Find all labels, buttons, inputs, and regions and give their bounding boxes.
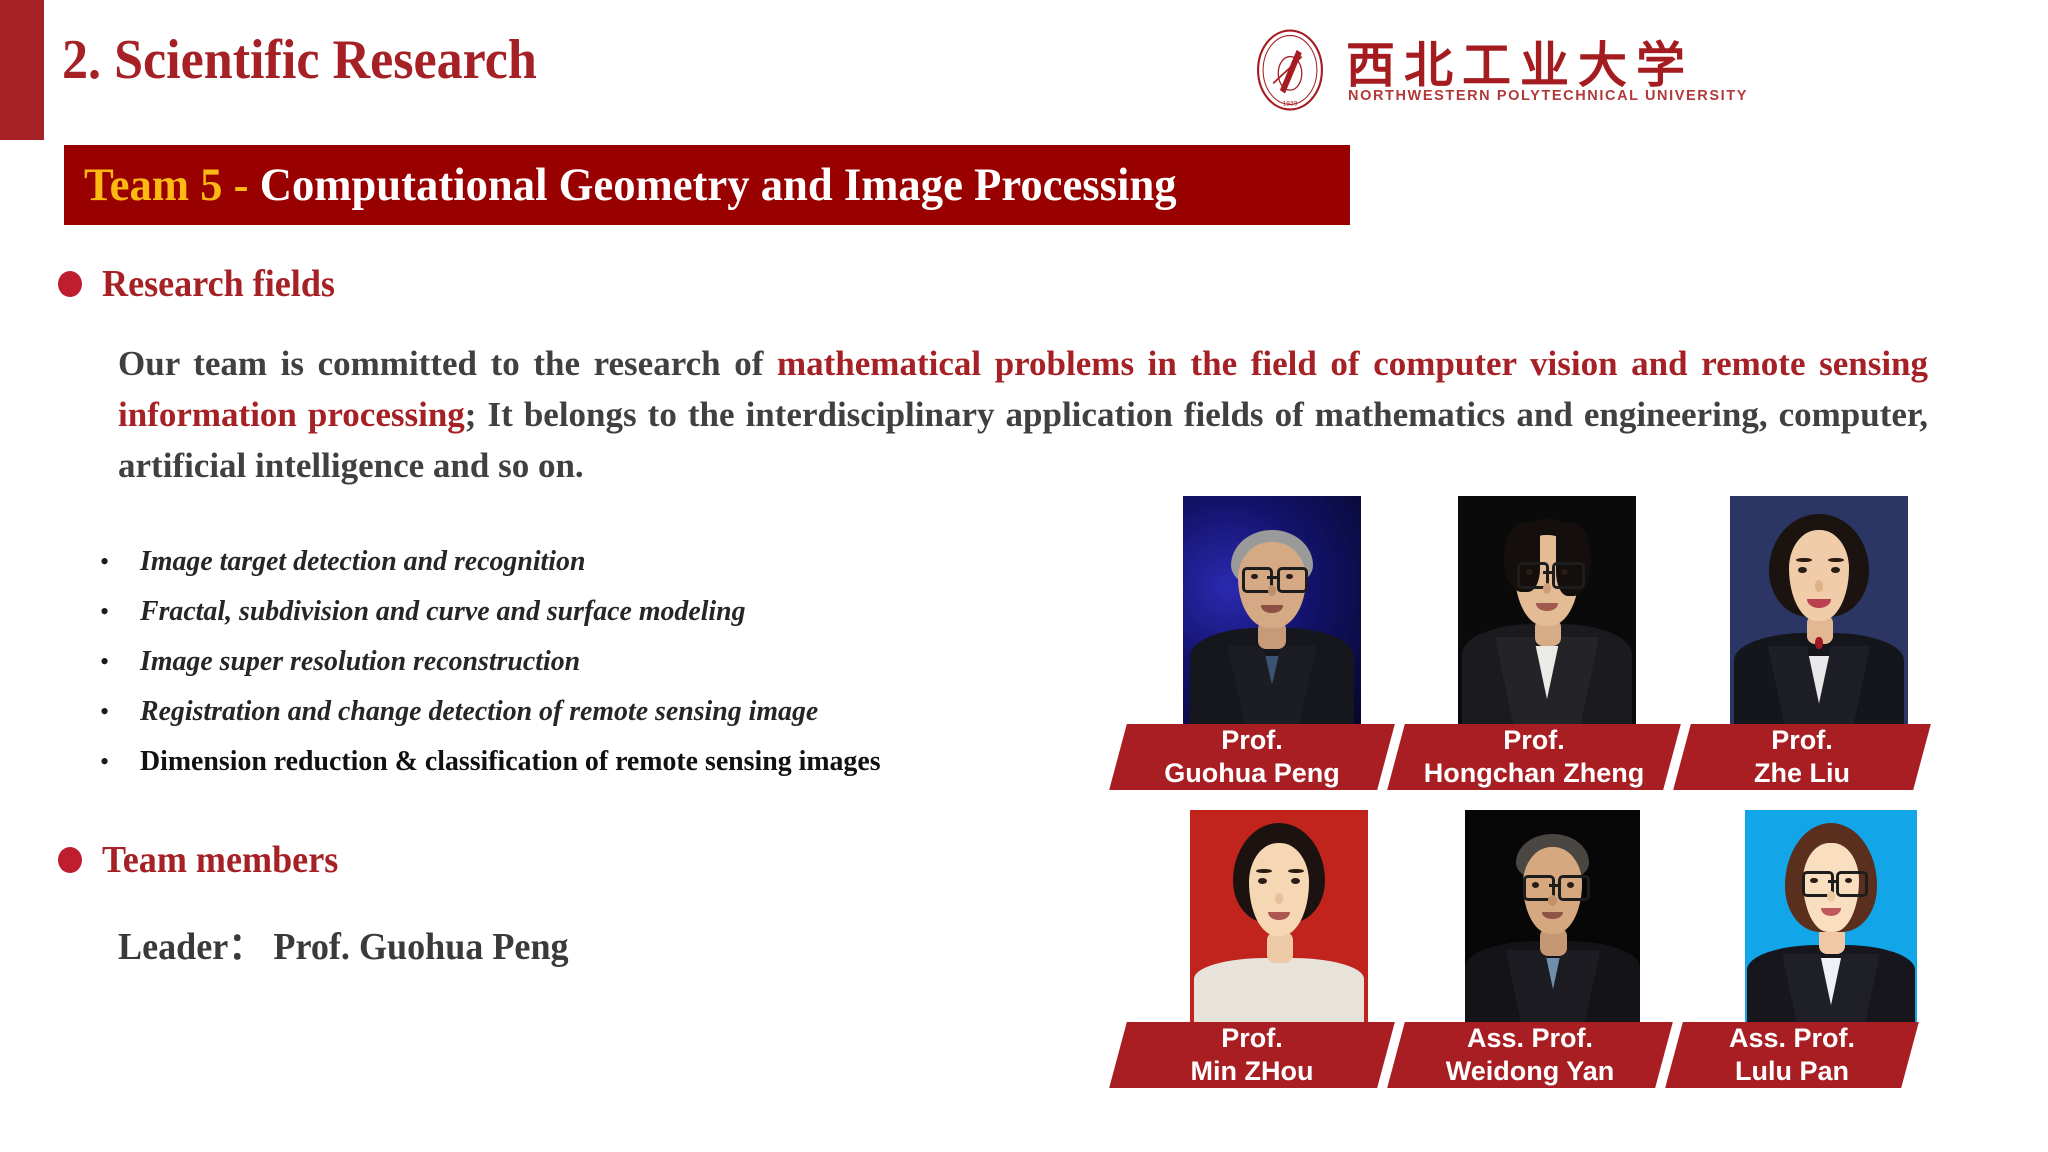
list-item-label: Fractal, subdivision and curve and surfa… (140, 595, 746, 628)
list-item: • Fractal, subdivision and curve and sur… (100, 595, 1030, 645)
member-photo-lulu-pan (1745, 810, 1917, 1028)
ribbon-segment (1109, 1022, 1395, 1088)
university-seal-icon: 1938 (1248, 28, 1332, 112)
list-item: • Dimension reduction & classification o… (100, 745, 1030, 795)
list-bullet-icon: • (100, 699, 140, 725)
list-item-label: Image target detection and recognition (140, 545, 585, 578)
ribbon-segment (1387, 1022, 1673, 1088)
member-photo-zhe-liu (1730, 496, 1908, 724)
team-separator: - (223, 159, 260, 211)
team-topic-label: Computational Geometry and Image Process… (260, 159, 1177, 211)
list-bullet-icon: • (100, 749, 140, 775)
team-members-label: Team members (102, 838, 338, 882)
ribbon-segment (1665, 1022, 1919, 1088)
research-description-paragraph: Our team is committed to the research of… (118, 338, 1928, 491)
bullet-dot-icon (58, 847, 82, 873)
portrait-figure (1190, 810, 1368, 1028)
list-bullet-icon: • (100, 549, 140, 575)
ribbon-segment (1673, 724, 1931, 790)
research-topics-list: • Image target detection and recognition… (100, 545, 1030, 795)
portrait-figure (1730, 496, 1908, 724)
list-item: • Image super resolution reconstruction (100, 645, 1030, 695)
bullet-dot-icon (58, 271, 82, 297)
team-leader-label: Leader： Prof. Guohua Peng (118, 915, 569, 970)
page-title: 2. Scientific Research (62, 28, 537, 92)
svg-text:1938: 1938 (1283, 101, 1298, 107)
paragraph-part-pre: Our team is committed to the research of (118, 344, 777, 383)
ribbon-segment (1109, 724, 1395, 790)
member-photo-guohua-peng (1183, 496, 1361, 724)
team-title-text: Team 5 - Computational Geometry and Imag… (84, 158, 1177, 212)
member-ribbon-row-1: Prof. Guohua Peng Prof. Hongchan Zheng P… (1100, 724, 2000, 790)
logo-lockup: 1938 西北工业大学 NORTHWESTERN POLYTECHNICAL U… (1238, 22, 2028, 122)
list-item-label: Dimension reduction & classification of … (140, 745, 881, 778)
list-item-label: Image super resolution reconstruction (140, 645, 580, 678)
ribbon-segment (1387, 724, 1681, 790)
slide-canvas: 2. Scientific Research 1938 西北工业大学 NORTH… (0, 0, 2048, 1152)
team-title-bar: Team 5 - Computational Geometry and Imag… (64, 145, 1350, 225)
portrait-figure (1465, 810, 1640, 1028)
list-item: • Image target detection and recognition (100, 545, 1030, 595)
portrait-figure (1183, 496, 1361, 724)
list-bullet-icon: • (100, 599, 140, 625)
research-fields-label: Research fields (102, 262, 335, 306)
member-photo-min-zhou (1190, 810, 1368, 1028)
section-heading-research-fields: Research fields (58, 262, 347, 306)
list-bullet-icon: • (100, 649, 140, 675)
member-photo-hongchan-zheng (1458, 496, 1636, 724)
list-item: • Registration and change detection of r… (100, 695, 1030, 745)
portrait-figure (1745, 810, 1917, 1028)
member-photo-weidong-yan (1465, 810, 1640, 1028)
section-heading-team-members: Team members (58, 838, 351, 882)
left-accent-bar (0, 0, 44, 140)
list-item-label: Registration and change detection of rem… (140, 695, 818, 728)
university-name-cn: 西北工业大学 (1346, 26, 1694, 97)
university-name-en: NORTHWESTERN POLYTECHNICAL UNIVERSITY (1348, 88, 1748, 104)
portrait-figure (1458, 496, 1636, 724)
member-ribbon-row-2: Prof. Min ZHou Ass. Prof. Weidong Yan As… (1100, 1022, 2000, 1088)
team-number-label: Team 5 (84, 159, 223, 211)
